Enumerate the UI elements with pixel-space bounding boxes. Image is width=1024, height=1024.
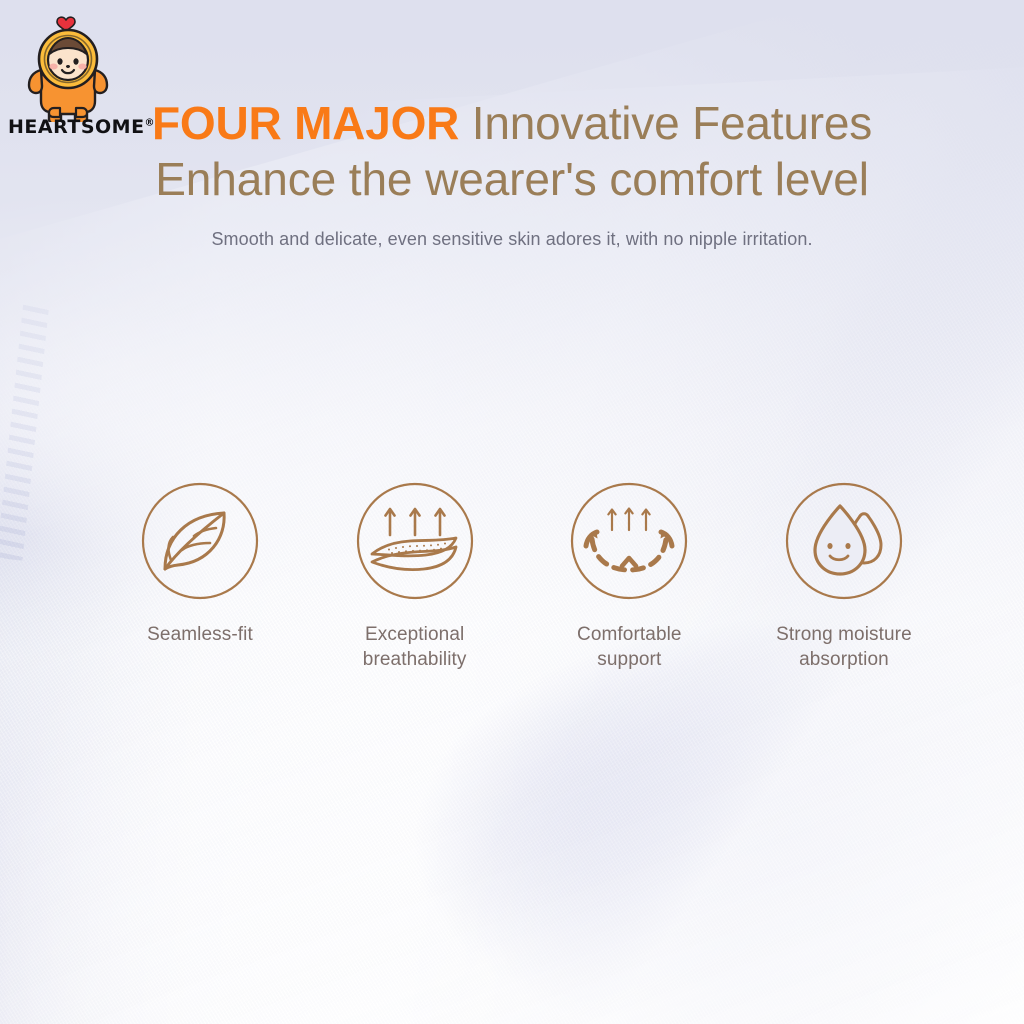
- feature-item-seamless-fit: Seamless-fit: [110, 482, 290, 647]
- feature-item-support: Comfortablesupport: [539, 482, 719, 672]
- background-stitch-detail: [0, 299, 50, 560]
- feature-label-support-line1: Comfortable: [577, 624, 682, 645]
- headline-line-1: FOUR MAJOR Innovative Features: [0, 95, 1024, 151]
- header-block: FOUR MAJOR Innovative Features Enhance t…: [0, 95, 1024, 250]
- feature-label-moisture: Strong moistureabsorption: [776, 622, 912, 672]
- leaf-icon: [141, 482, 259, 600]
- feature-label-support-line2: support: [597, 649, 661, 670]
- header-subtitle: Smooth and delicate, even sensitive skin…: [0, 229, 1024, 250]
- feature-label-moisture-line2: absorption: [799, 649, 889, 670]
- water-droplets-icon: [785, 482, 903, 600]
- product-feature-poster: HEARTSOME® FOUR MAJOR Innovative Feature…: [0, 0, 1024, 1024]
- feature-label-moisture-line1: Strong moisture: [776, 624, 912, 645]
- feature-label-breathability-line2: breathability: [363, 649, 467, 670]
- fabric-layers-icon: [356, 482, 474, 600]
- support-lift-icon: [570, 482, 688, 600]
- headline-accent: FOUR MAJOR: [152, 97, 459, 149]
- feature-item-moisture: Strong moistureabsorption: [754, 482, 934, 672]
- feature-label-seamless-fit: Seamless-fit: [147, 622, 253, 647]
- headline-rest: Innovative Features: [472, 97, 872, 149]
- feature-label-breathability-line1: Exceptional: [365, 624, 464, 645]
- feature-label-breathability: Exceptionalbreathability: [363, 622, 467, 672]
- feature-list: Seamless-fit: [110, 482, 934, 672]
- headline-line-2: Enhance the wearer's comfort level: [0, 151, 1024, 207]
- feature-item-breathability: Exceptionalbreathability: [325, 482, 505, 672]
- feature-label-support: Comfortablesupport: [577, 622, 682, 672]
